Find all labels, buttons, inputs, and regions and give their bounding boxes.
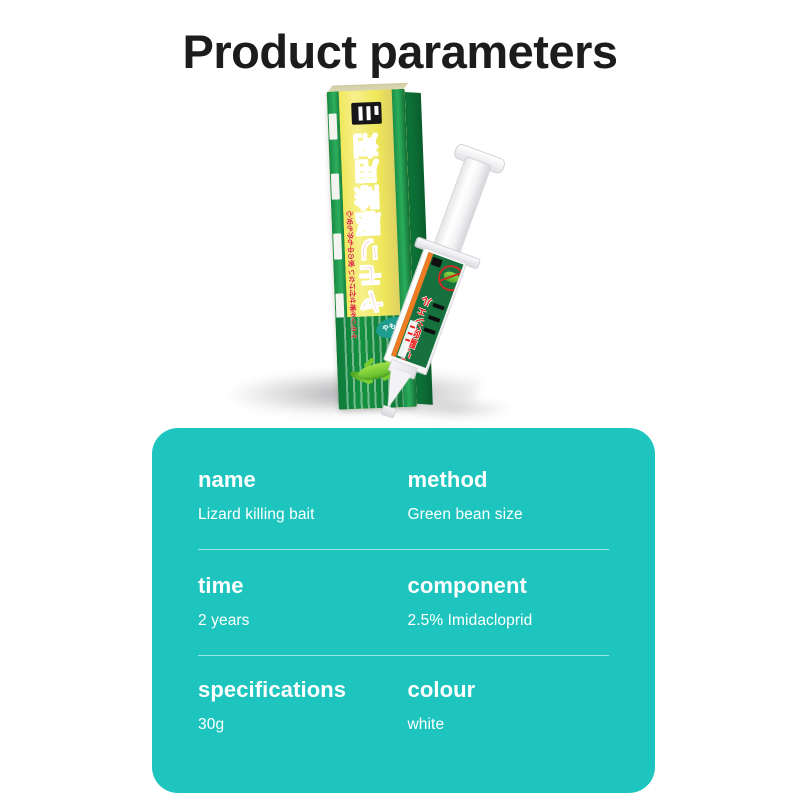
specifications-card: name Lizard killing bait method Green be… (152, 428, 655, 793)
product-parameters-page: Product parameters ヤモリ駆除用剤 (0, 0, 800, 800)
spec-divider (198, 549, 609, 550)
spec-cell-method: method Green bean size (404, 468, 610, 525)
spec-value-name: Lizard killing bait (198, 506, 404, 525)
spec-value-method: Green bean size (408, 506, 610, 525)
spec-value-colour: white (408, 716, 610, 735)
spec-label-component: component (408, 574, 610, 598)
spec-cell-specifications: specifications 30g (198, 678, 404, 735)
spec-cell-time: time 2 years (198, 574, 404, 631)
product-photo: ヤモリ駆除用剤 やもり (0, 80, 800, 440)
syringe-plunger (432, 156, 492, 258)
spec-label-specifications: specifications (198, 678, 404, 702)
spec-cell-name: name Lizard killing bait (198, 468, 404, 525)
spec-divider (198, 655, 609, 656)
syringe-barrel: ヤモリ駆除ジェル (383, 247, 467, 375)
brand-logo-icon (351, 102, 382, 125)
spec-value-time: 2 years (198, 612, 404, 631)
syringe-label: ヤモリ駆除ジェル (391, 252, 463, 368)
spec-label-colour: colour (408, 678, 610, 702)
syringe-brand-mark-icon (431, 257, 443, 268)
spec-value-component: 2.5% Imidacloprid (408, 612, 610, 631)
page-title: Product parameters (0, 24, 800, 79)
spec-cell-component: component 2.5% Imidacloprid (404, 574, 610, 631)
spec-label-name: name (198, 468, 404, 492)
spec-label-method: method (408, 468, 610, 492)
spec-label-time: time (198, 574, 404, 598)
spec-cell-colour: colour white (404, 678, 610, 735)
spec-row: time 2 years component 2.5% Imidacloprid (198, 574, 609, 631)
spec-row: name Lizard killing bait method Green be… (198, 468, 609, 525)
spec-value-specifications: 30g (198, 716, 404, 735)
spec-row: specifications 30g colour white (198, 678, 609, 735)
